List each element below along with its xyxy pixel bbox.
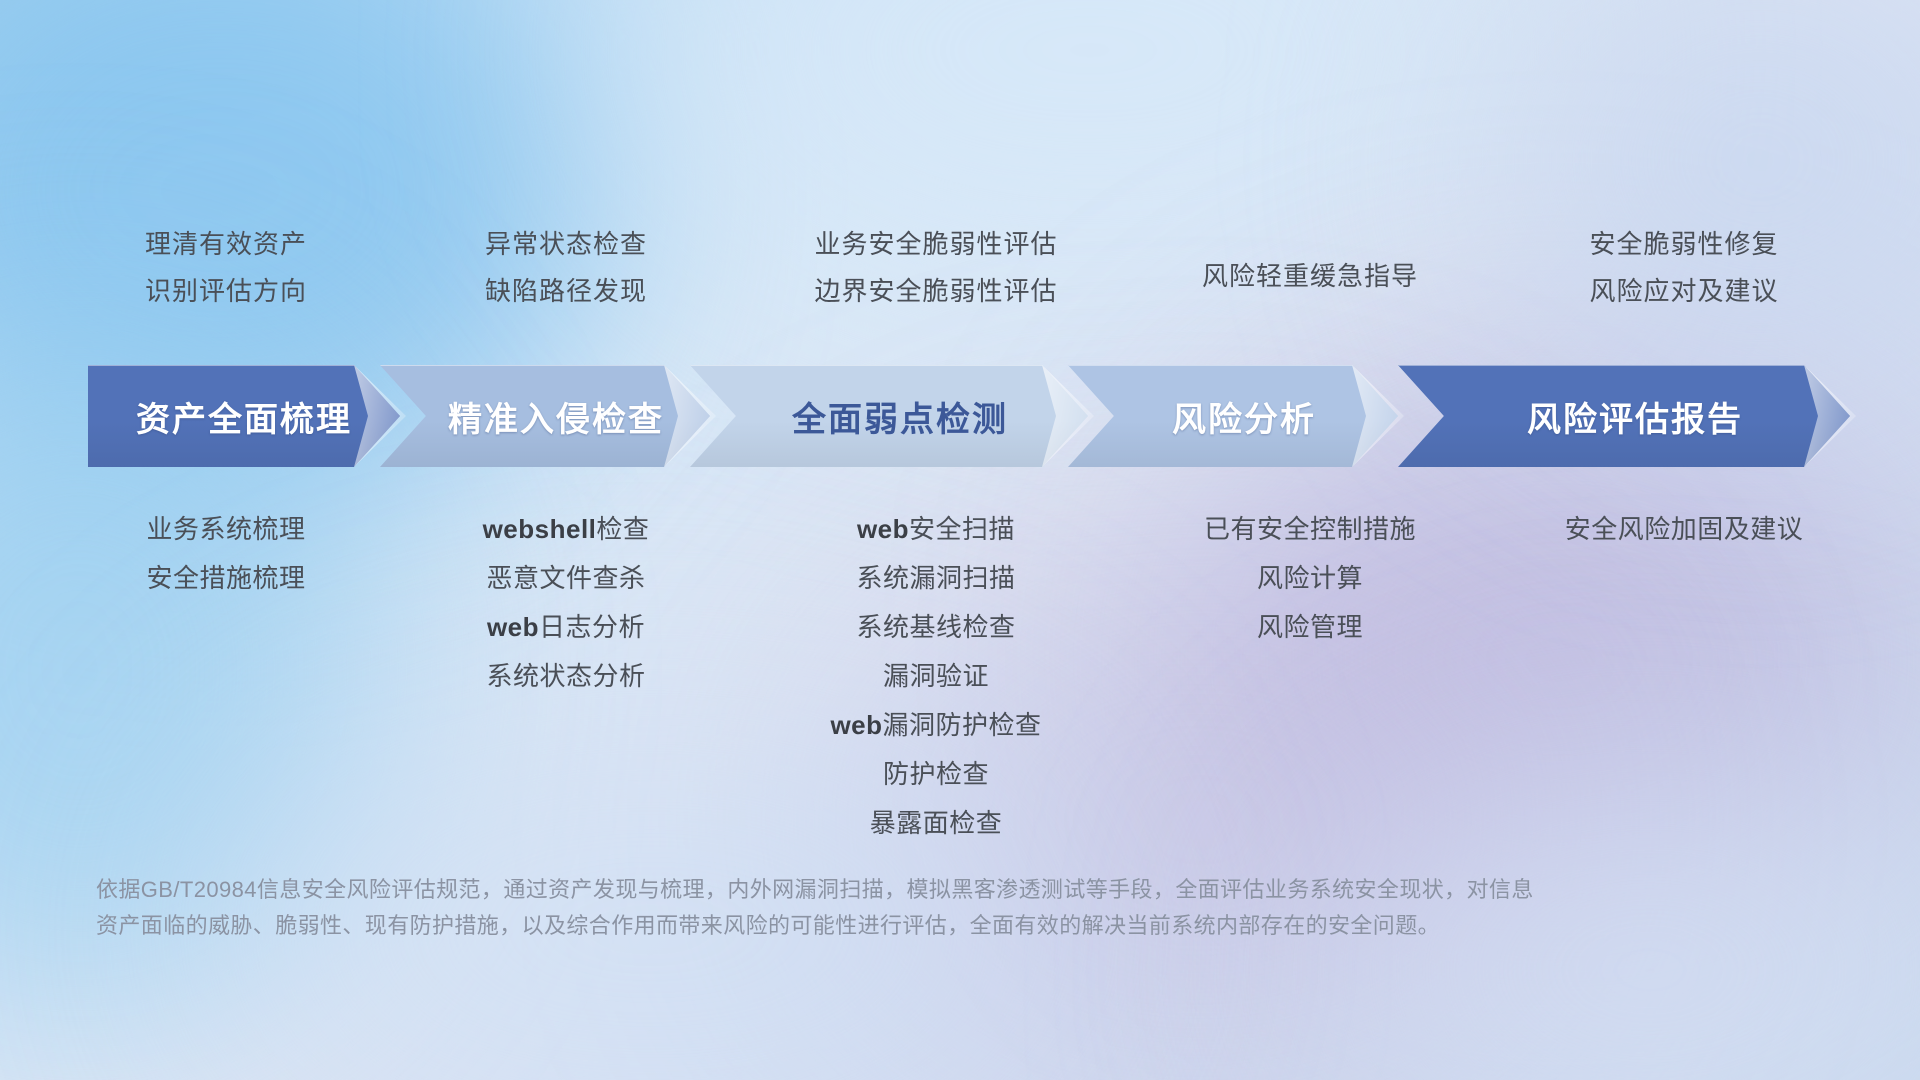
detail-item: 安全措施梳理 — [146, 554, 305, 603]
detail-item: 风险计算 — [1257, 554, 1363, 603]
detail-item: 安全风险加固及建议 — [1565, 505, 1804, 554]
detail-item: 恶意文件查杀 — [486, 554, 645, 603]
detail-item-text: 日志分析 — [539, 612, 645, 642]
detail-item-text: 检查 — [596, 514, 649, 544]
top-note: 识别评估方向 — [145, 275, 307, 308]
chevron-stage-weakness-detection[interactable]: 全面弱点检测 — [690, 365, 1088, 467]
chevron-stage-risk-analysis[interactable]: 风险分析 — [1068, 365, 1398, 467]
detail-item: 系统基线检查 — [856, 603, 1015, 652]
detail-item: 暴露面检查 — [870, 799, 1003, 848]
chevron-label: 精准入侵检查 — [448, 392, 664, 441]
detail-item-text: 安全扫描 — [909, 514, 1015, 544]
detail-item: web日志分析 — [487, 603, 645, 652]
detail-item-lead: web — [857, 514, 909, 544]
chevron-label: 资产全面梳理 — [136, 392, 352, 441]
detail-item: 防护检查 — [883, 750, 989, 799]
process-chevron-band: 资产全面梳理精准入侵检查全面弱点检测风险分析风险评估报告 — [0, 365, 1920, 467]
detail-item-text: 漏洞防护检查 — [883, 710, 1042, 740]
detail-item: web漏洞防护检查 — [830, 701, 1041, 750]
top-note: 风险轻重缓急指导 — [1202, 260, 1418, 293]
chevron-stage-intrusion-check[interactable]: 精准入侵检查 — [380, 365, 710, 467]
top-note: 缺陷路径发现 — [485, 275, 647, 308]
top-notes-row: 理清有效资产识别评估方向异常状态检查缺陷路径发现业务安全脆弱性评估边界安全脆弱性… — [0, 228, 1920, 338]
detail-item: 系统状态分析 — [486, 652, 645, 701]
footer-line-1: 依据GB/T20984信息安全风险评估规范，通过资产发现与梳理，内外网漏洞扫描，… — [96, 872, 1656, 908]
footer-description: 依据GB/T20984信息安全风险评估规范，通过资产发现与梳理，内外网漏洞扫描，… — [96, 872, 1656, 944]
top-note: 安全脆弱性修复 — [1589, 228, 1778, 261]
detail-item-lead: webshell — [483, 514, 597, 544]
top-note: 异常状态检查 — [485, 228, 647, 261]
footer-line-2: 资产面临的威胁、脆弱性、现有防护措施，以及综合作用而带来风险的可能性进行评估，全… — [96, 908, 1656, 944]
chevron-label: 风险评估报告 — [1527, 392, 1743, 441]
detail-item: webshell检查 — [483, 505, 650, 554]
top-note: 边界安全脆弱性评估 — [814, 275, 1057, 308]
detail-column-risk-report: 安全风险加固及建议 — [1565, 505, 1804, 554]
top-note: 风险应对及建议 — [1589, 275, 1778, 308]
chevron-stage-risk-report[interactable]: 风险评估报告 — [1398, 365, 1850, 467]
detail-item: web安全扫描 — [857, 505, 1015, 554]
detail-item: 业务系统梳理 — [146, 505, 305, 554]
top-note: 理清有效资产 — [145, 228, 307, 261]
detail-column-weakness-detection: web安全扫描系统漏洞扫描系统基线检查漏洞验证web漏洞防护检查防护检查暴露面检… — [830, 505, 1041, 848]
detail-item: 漏洞验证 — [883, 652, 989, 701]
detail-item-lead: web — [830, 710, 882, 740]
detail-item: 风险管理 — [1257, 603, 1363, 652]
chevron-label: 全面弱点检测 — [792, 392, 1008, 441]
chevron-label: 风险分析 — [1172, 392, 1316, 441]
detail-item: 已有安全控制措施 — [1204, 505, 1416, 554]
detail-column-intrusion-check: webshell检查恶意文件查杀web日志分析系统状态分析 — [483, 505, 650, 701]
detail-item: 系统漏洞扫描 — [856, 554, 1015, 603]
detail-item-lead: web — [487, 612, 539, 642]
chevron-stage-asset-inventory[interactable]: 资产全面梳理 — [88, 365, 400, 467]
detail-column-asset-inventory: 业务系统梳理安全措施梳理 — [146, 505, 305, 603]
top-note: 业务安全脆弱性评估 — [814, 228, 1057, 261]
detail-column-risk-analysis: 已有安全控制措施风险计算风险管理 — [1204, 505, 1416, 652]
